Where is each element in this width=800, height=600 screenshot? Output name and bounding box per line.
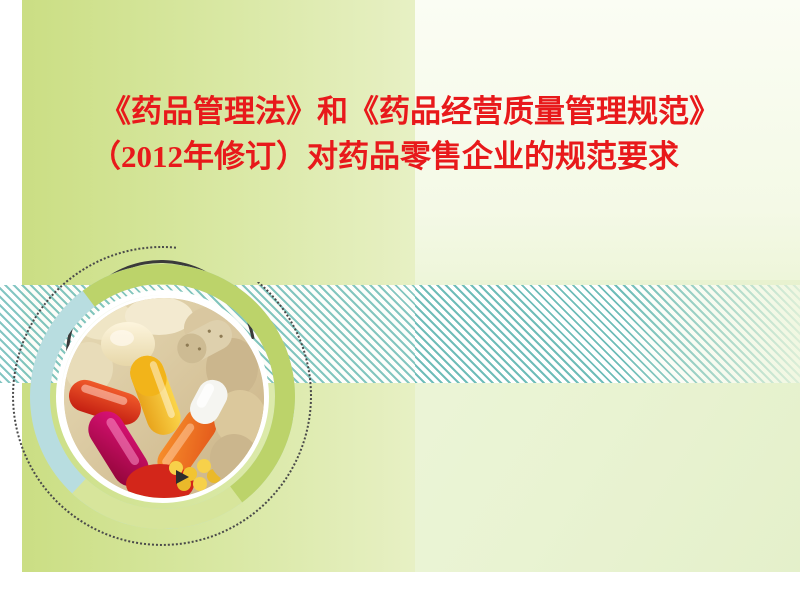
title-line-1: 《药品管理法》和《药品经营质量管理规范》 xyxy=(60,90,760,135)
slide-title: 《药品管理法》和《药品经营质量管理规范》 （2012年修订）对药品零售企业的规范… xyxy=(60,90,760,180)
arrow-head-icon xyxy=(176,470,189,484)
circular-graphic xyxy=(8,232,338,562)
capsules-and-pills-photo xyxy=(64,298,264,498)
presentation-slide: 《药品管理法》和《药品经营质量管理规范》 （2012年修订）对药品零售企业的规范… xyxy=(0,0,800,600)
stripe-band-fade xyxy=(620,285,800,383)
background-bottom-strip xyxy=(0,572,800,600)
title-line-2: （2012年修订）对药品零售企业的规范要求 xyxy=(60,135,760,180)
